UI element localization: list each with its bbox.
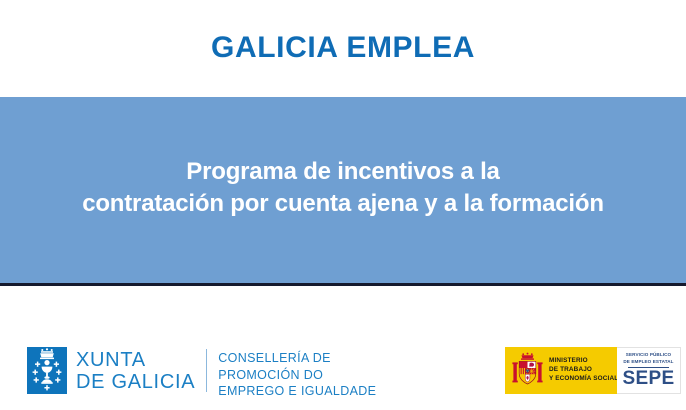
spain-coat-of-arms-icon: [511, 352, 544, 389]
program-banner-line-1: Programa de incentivos a la: [13, 156, 673, 188]
sepe-acronym: SEPE: [623, 369, 675, 388]
lockup-divider: [206, 349, 207, 392]
ministerio-line-1: MINISTERIO: [549, 357, 618, 366]
galicia-coat-of-arms-icon: [27, 347, 67, 394]
conselleria-line-2: PROMOCIÓN DO: [218, 367, 376, 384]
program-banner: Programa de incentivos a la contratación…: [0, 97, 686, 286]
government-logos: MINISTERIO DE TRABAJO Y ECONOMÍA SOCIAL …: [505, 347, 681, 394]
conselleria-line-1: CONSELLERÍA DE: [218, 350, 376, 367]
xunta-de-galicia-logo: XUNTA DE GALICIA CONSELLERÍA DE PROMOCIÓ…: [27, 347, 376, 400]
xunta-wordmark-line-2: DE GALICIA: [76, 371, 195, 393]
ministerio-line-3: Y ECONOMÍA SOCIAL: [549, 375, 618, 384]
xunta-wordmark-line-1: XUNTA: [76, 349, 195, 371]
footer-logo-bar: XUNTA DE GALICIA CONSELLERÍA DE PROMOCIÓ…: [0, 289, 686, 410]
page-title: GALICIA EMPLEA: [211, 33, 475, 65]
conselleria-line-3: EMPREGO E IGUALDADE: [218, 383, 376, 400]
conselleria-wordmark: CONSELLERÍA DE PROMOCIÓN DO EMPREGO E IG…: [218, 347, 376, 400]
program-banner-text: Programa de incentivos a la contratación…: [13, 156, 673, 224]
ministerio-line-2: DE TRABAJO: [549, 366, 618, 375]
xunta-wordmark: XUNTA DE GALICIA: [76, 347, 195, 394]
sepe-logo: SERVICIO PÚBLICO DE EMPLEO ESTATAL SEPE: [617, 347, 681, 394]
sepe-subtitle-line-2: DE EMPLEO ESTATAL: [623, 359, 673, 365]
program-banner-line-2: contratación por cuenta ajena y a la for…: [13, 188, 673, 220]
title-zone: GALICIA EMPLEA: [0, 0, 686, 97]
ministerio-de-trabajo-logo: MINISTERIO DE TRABAJO Y ECONOMÍA SOCIAL: [505, 347, 617, 394]
ministerio-wordmark: MINISTERIO DE TRABAJO Y ECONOMÍA SOCIAL: [549, 357, 618, 383]
